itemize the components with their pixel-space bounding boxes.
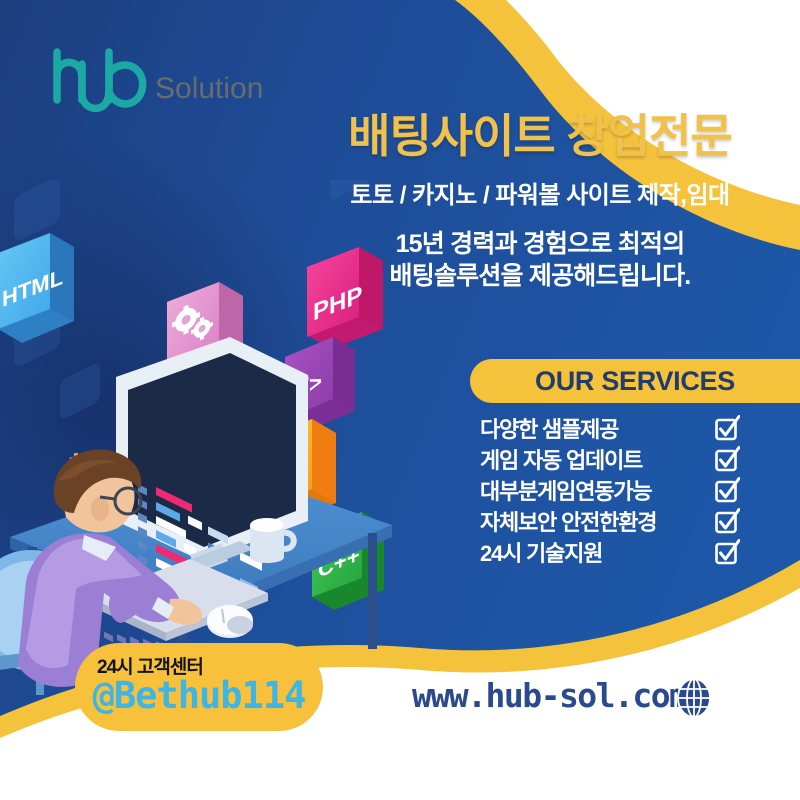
list-item: 대부분게임연동가능 xyxy=(480,474,740,505)
checkbox-checked-icon xyxy=(714,446,740,472)
service-label: 다양한 샘플제공 xyxy=(480,412,618,444)
our-services-label: OUR SERVICES xyxy=(535,366,735,397)
poster-canvas: HTML xyxy=(0,0,800,800)
page-title: 배팅사이트 창업전문 xyxy=(300,112,780,161)
our-services-banner: OUR SERVICES xyxy=(470,359,800,403)
headline-block: 배팅사이트 창업전문 토토 / 카지노 / 파워볼 사이트 제작,임대 15년 … xyxy=(300,112,780,292)
checkbox-checked-icon xyxy=(714,477,740,503)
service-label: 자체보안 안전한환경 xyxy=(480,505,656,537)
pitch-line-1: 15년 경력과 경험으로 최적의 xyxy=(300,228,780,260)
list-item: 자체보안 안전한환경 xyxy=(480,505,740,536)
list-item: 다양한 샘플제공 xyxy=(480,412,740,443)
service-label: 24시 기술지원 xyxy=(480,536,602,568)
checkbox-checked-icon xyxy=(714,539,740,565)
list-item: 24시 기술지원 xyxy=(480,536,740,567)
html-badge-icon: HTML xyxy=(0,233,74,343)
messenger-handle[interactable]: @Bethub114 xyxy=(85,674,313,717)
services-list: 다양한 샘플제공 게임 자동 업데이트 대부분게임연동가능 xyxy=(480,412,740,567)
globe-icon xyxy=(672,676,716,720)
logo-wordmark: Solution xyxy=(155,72,263,105)
service-label: 게임 자동 업데이트 xyxy=(480,443,642,475)
isometric-developer-illustration: HTML xyxy=(0,225,462,695)
website-url[interactable]: www.hub-sol.com xyxy=(412,676,688,715)
checkbox-checked-icon xyxy=(714,415,740,441)
mouse xyxy=(207,605,253,638)
checkbox-checked-icon xyxy=(714,508,740,534)
headline-pitch: 15년 경력과 경험으로 최적의 배팅솔루션을 제공해드립니다. xyxy=(300,228,780,292)
list-item: 게임 자동 업데이트 xyxy=(480,443,740,474)
pitch-line-2: 배팅솔루션을 제공해드립니다. xyxy=(300,260,780,292)
customer-center-pill[interactable]: 24시 고객센터 @Bethub114 xyxy=(75,643,323,731)
service-label: 대부분게임연동가능 xyxy=(480,474,651,506)
brand-logo[interactable]: Solution xyxy=(45,42,285,120)
headline-subtitle: 토토 / 카지노 / 파워볼 사이트 제작,임대 xyxy=(300,175,780,210)
